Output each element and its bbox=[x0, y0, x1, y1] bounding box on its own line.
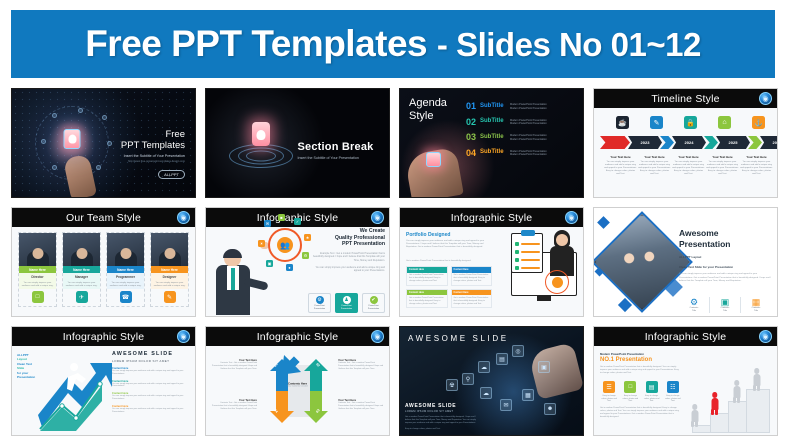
mini-icon-bulb: ☀ bbox=[258, 240, 265, 247]
box-icon: ✔ bbox=[370, 296, 378, 304]
slide-thumbnail-awesome-presentation[interactable]: Awesome Presentation ALLPPT Layout Clean… bbox=[593, 207, 778, 317]
slide8-paragraph: You can simply impress your audience and… bbox=[679, 273, 771, 283]
team-member-name: Name Here bbox=[19, 266, 56, 273]
timeline-arrow-4 bbox=[748, 136, 762, 149]
logo-badge-icon: ◉ bbox=[371, 330, 384, 343]
column-icon: ⚙ bbox=[679, 297, 709, 307]
agenda-detail-line: Modern PowerPoint Presentation bbox=[510, 138, 580, 142]
note-body: Contents Text : Get a modern PowerPoint … bbox=[338, 362, 384, 370]
slide12-header: Infographic Style ◉ bbox=[594, 327, 777, 346]
page-banner: Free PPT Templates - Slides No 01~12 bbox=[11, 10, 775, 78]
portfolio-card: Content Here Get a modern PowerPoint Pre… bbox=[451, 289, 493, 309]
slide2-title: Section Break bbox=[298, 141, 374, 153]
timeline-arrow-1 bbox=[600, 136, 630, 149]
banner-title-part2: - Slides No 01~12 bbox=[437, 26, 701, 63]
timeline-text-2: Your Text HereYou can simply impress you… bbox=[638, 155, 671, 176]
person-node-icon bbox=[41, 139, 46, 144]
slide9-header: Infographic Style ◉ bbox=[12, 327, 195, 346]
icon-tile: ▤ bbox=[646, 381, 658, 393]
cycle-center-text: Contents Here Your Contents Created bbox=[278, 382, 318, 389]
portfolio-paragraph: You can simply impress your audience and… bbox=[406, 240, 486, 250]
agenda-subtitle: SubTitle bbox=[480, 149, 510, 155]
team-member-name: Name Here bbox=[151, 266, 188, 273]
target-icon: ◎ bbox=[512, 345, 524, 357]
icon-caption: Easy to change colors, photos and Text. bbox=[643, 395, 661, 403]
slide3-title-line2: Style bbox=[409, 110, 447, 123]
agenda-number: 01 bbox=[466, 101, 480, 111]
slide5-header-title: Our Team Style bbox=[66, 212, 141, 224]
agenda-item: 04 SubTitle Modern PowerPoint Presentati… bbox=[466, 148, 580, 158]
slide1-subtitle: Insert the Subtitle of Your Presentation bbox=[103, 154, 185, 158]
center-body: Your Contents Created bbox=[278, 386, 318, 389]
agenda-item: 03 SubTitle Modern PowerPoint Presentati… bbox=[466, 132, 580, 142]
slide-thumbnail-section-break[interactable]: Section Break Insert the Subtitle of You… bbox=[205, 88, 390, 198]
user-avatar-icon bbox=[426, 152, 441, 167]
agenda-number: 03 bbox=[466, 132, 480, 142]
timeline-text-3: Your Text HereYou can simply impress you… bbox=[672, 155, 705, 176]
cycle-note: Your Text Here Contents Text : Get a mod… bbox=[211, 359, 257, 370]
timeline-icon-2: ✎ bbox=[650, 116, 663, 129]
team-member-card: Name Here Programmer You can simply impr… bbox=[106, 232, 145, 307]
slide12-icon-row: ☰ Easy to change colors, photos and Text… bbox=[600, 381, 682, 403]
icon-tile: □ bbox=[624, 381, 636, 393]
timeline-year-3: 2025 bbox=[716, 136, 750, 149]
box-icon: ♟ bbox=[343, 296, 351, 304]
icon-caption: Easy to change colors, photos and Text. bbox=[600, 395, 618, 403]
slide11-paragraph: Get a modern PowerPoint Presentation tha… bbox=[405, 416, 481, 425]
slide12-footer: Get a modern PowerPoint Presentation tha… bbox=[600, 407, 682, 419]
team-member-card: Name Here Designer You can simply impres… bbox=[150, 232, 189, 307]
box-label: PowerPoint Presentation bbox=[363, 305, 384, 310]
timeline-year-2: 2024 bbox=[672, 136, 706, 149]
box-label: PowerPoint Presentation bbox=[309, 305, 330, 310]
agenda-detail: Modern PowerPoint Presentation Modern Po… bbox=[510, 150, 580, 157]
icon-caption: Easy to change colors, photos and Text. bbox=[621, 395, 639, 403]
timeline-arrow-3 bbox=[704, 136, 718, 149]
portfolio-card-body: Get a modern PowerPoint Presentation tha… bbox=[452, 273, 492, 285]
target-circle-icon: 👥 bbox=[268, 228, 302, 262]
team-member-photo bbox=[19, 233, 56, 266]
column-line2: Title bbox=[741, 310, 771, 313]
slide6-paragraph1: Example Text : Get a modern PowerPoint P… bbox=[311, 252, 385, 262]
slide-thumbnail-infographic-character[interactable]: Infographic Style ◉ 👥 ✉ ■ ✓ ★ ⚙ ● ▣ ☀ We… bbox=[205, 207, 390, 317]
portfolio-note: Get a modern PowerPoint Presentation tha… bbox=[406, 260, 486, 263]
agenda-item: 01 SubTitle Modern PowerPoint Presentati… bbox=[466, 101, 580, 111]
team-member-photo bbox=[151, 233, 188, 266]
figure-gray bbox=[732, 380, 741, 402]
note-body: Contents Text : Get a modern PowerPoint … bbox=[211, 402, 257, 410]
team-member-desc: You can simply impress your audience and… bbox=[107, 280, 144, 289]
team-member-photo bbox=[63, 233, 100, 266]
businessman-illustration bbox=[210, 250, 266, 316]
document-icon: ▤ bbox=[496, 353, 508, 365]
team-member-name: Name Here bbox=[63, 266, 100, 273]
timeline-text-1: Your Text HereYou can simply impress you… bbox=[604, 155, 637, 176]
lightbulb-icon: ☢ bbox=[446, 379, 458, 391]
growth-arrow-graphic bbox=[38, 353, 112, 431]
slide12-heading: NO.1 Presentation bbox=[600, 357, 652, 363]
timeline-axis: 2023 2024 2025 2026 2027 bbox=[600, 136, 771, 149]
monitor-stand-graphic bbox=[537, 296, 551, 301]
portfolio-heading: Portfolio Designed bbox=[406, 232, 450, 238]
slide1-title-line2: PPT Templates bbox=[103, 140, 185, 151]
team-member-desc: You can simply impress your audience and… bbox=[19, 280, 56, 289]
timeline-icon-4: ⌂ bbox=[718, 116, 731, 129]
slide6-box: ✔ PowerPoint Presentation bbox=[362, 293, 385, 313]
team-member-role: Programmer bbox=[107, 273, 144, 280]
slide-thumbnail-stairs[interactable]: Infographic Style ◉ Modern PowerPoint Pr… bbox=[593, 326, 778, 436]
agenda-detail-line: Modern PowerPoint Presentation bbox=[510, 107, 580, 111]
slide12-icon-item: ▤ Easy to change colors, photos and Text… bbox=[643, 381, 661, 403]
mini-icon-chart: ■ bbox=[278, 214, 285, 221]
item-body: You can simply impress your audience and… bbox=[112, 395, 190, 401]
cycle-note: Your Text Here Contents Text : Get a mod… bbox=[211, 399, 257, 410]
slide6-heading-line1: We Create bbox=[311, 228, 385, 235]
slide9-text-block: AWESOME SLIDE LOREM IPSUM DOLOR SIT AMET… bbox=[112, 351, 190, 413]
slide-thumbnail-team[interactable]: Our Team Style ◉ Name Here Director You … bbox=[11, 207, 196, 317]
slide8-title-line1: Awesome bbox=[679, 228, 771, 239]
ripple-ring-icon bbox=[246, 150, 276, 161]
slide-thumbnail-arrow-chart[interactable]: Infographic Style ◉ ALLPPT Layout Clean … bbox=[11, 326, 196, 436]
banner-title: Free PPT Templates - Slides No 01~12 bbox=[85, 23, 701, 65]
slide11-text-panel: AWESOME SLIDE LOREM IPSUM DOLOR SIT AMET… bbox=[405, 403, 481, 431]
slide2-subtitle: Insert the Subtitle of Your Presentation bbox=[298, 156, 374, 160]
slide8-subheading-line1: ALLPPT Layout bbox=[679, 255, 771, 259]
icon-caption: Easy to change colors, photos and Text. bbox=[664, 395, 682, 403]
portfolio-card-body: Get a modern PowerPoint Presentation tha… bbox=[407, 273, 447, 285]
team-member-card: Name Here Director You can simply impres… bbox=[18, 232, 57, 307]
figure-highlight bbox=[710, 392, 719, 414]
column-line2: Title bbox=[710, 310, 740, 313]
woman-illustration bbox=[547, 230, 577, 276]
timeline-text-4: Your Text HereYou can simply impress you… bbox=[706, 155, 739, 176]
slide10-header: Infographic Style ◉ bbox=[206, 327, 389, 346]
mini-icon-star: ★ bbox=[304, 234, 311, 241]
slide1-url: http://www.free-powerpoint-templates-des… bbox=[103, 160, 185, 163]
mini-icon-check: ✓ bbox=[294, 218, 301, 225]
timeline-icon-1: ☕ bbox=[616, 116, 629, 129]
person-node-icon bbox=[52, 165, 57, 170]
mini-icon-chat: ✉ bbox=[264, 220, 271, 227]
slide1-title-line1: Free bbox=[103, 129, 185, 140]
slide12-paragraph: Get a modern PowerPoint Presentation tha… bbox=[600, 366, 680, 375]
contents-column: ⚙ Contents Title bbox=[679, 297, 709, 313]
template-preview-page: Free PPT Templates - Slides No 01~12 Fre… bbox=[0, 0, 786, 445]
team-member-icon: ☎ bbox=[120, 291, 132, 303]
cloud-icon: ☁ bbox=[478, 361, 490, 373]
slide11-subheading: LOREM IPSUM DOLOR SIT AMET bbox=[405, 410, 481, 413]
slide6-text-block: We Create Quality Professional PPT Prese… bbox=[311, 228, 385, 273]
team-member-icon: ✈ bbox=[76, 291, 88, 303]
timeline-arrow-2 bbox=[660, 136, 674, 149]
slide2-text-block: Section Break Insert the Subtitle of You… bbox=[298, 141, 374, 160]
column-icon: ▦ bbox=[741, 297, 771, 307]
mini-icon-gear: ⚙ bbox=[302, 252, 309, 259]
slide-thumbnail-timeline[interactable]: Timeline Style ◉ ☕ ✎ 🔒 ⌂ ⚓ 2023 2024 202… bbox=[593, 88, 778, 198]
agenda-number: 02 bbox=[466, 117, 480, 127]
logo-badge-icon: ◉ bbox=[759, 330, 772, 343]
agenda-detail-line: Modern PowerPoint Presentation bbox=[510, 153, 580, 157]
slide1-brand-badge: ALLPPT bbox=[158, 170, 185, 179]
slide10-header-title: Infographic Style bbox=[257, 331, 339, 343]
team-member-desc: You can simply impress your audience and… bbox=[151, 280, 188, 289]
timeline-icon-5: ⚓ bbox=[752, 116, 765, 129]
people-icon: ☻ bbox=[544, 403, 556, 415]
item-body: You can simply impress your audience and… bbox=[112, 370, 190, 376]
column-icon: ▣ bbox=[710, 297, 740, 307]
slide-thumbnail-agenda[interactable]: Agenda Style 01 SubTitle Modern PowerPoi… bbox=[399, 88, 584, 198]
team-member-role: Manager bbox=[63, 273, 100, 280]
note-body: Contents Text : Get a modern PowerPoint … bbox=[211, 362, 257, 370]
slide5-header: Our Team Style ◉ bbox=[12, 208, 195, 227]
slide9-item: Content Here You can simply impress your… bbox=[112, 405, 190, 414]
slide6-paragraph2: You can simply impress your audience and… bbox=[311, 266, 385, 273]
slide7-header: Infographic Style ◉ bbox=[400, 208, 583, 227]
slide12-header-title: Infographic Style bbox=[645, 331, 727, 343]
slide4-header: Timeline Style ◉ bbox=[594, 89, 777, 108]
item-body: You can simply impress your audience and… bbox=[112, 408, 190, 414]
team-member-icon: ✎ bbox=[164, 291, 176, 303]
contents-column: ▦ Contents Title bbox=[740, 297, 771, 313]
agenda-detail: Modern PowerPoint Presentation Modern Po… bbox=[510, 119, 580, 126]
agenda-number: 04 bbox=[466, 148, 480, 158]
timeline-text-5: Your Text HereYou can simply impress you… bbox=[740, 155, 773, 176]
team-card-list: Name Here Director You can simply impres… bbox=[18, 232, 189, 307]
slide6-heading-line3: PPT Presentation bbox=[311, 241, 385, 248]
mail-icon: ✉ bbox=[500, 399, 512, 411]
contents-column: ▣ Contents Title bbox=[709, 297, 740, 313]
clipboard-icon bbox=[511, 233, 543, 273]
slide9-subheading: LOREM IPSUM DOLOR SIT AMET bbox=[112, 359, 190, 363]
slide9-item: Content Here You can simply impress your… bbox=[112, 367, 190, 376]
slide8-text-block: Awesome Presentation ALLPPT Layout Clean… bbox=[679, 228, 771, 283]
agenda-detail: Modern PowerPoint Presentation Modern Po… bbox=[510, 103, 580, 110]
slide11-heading: AWESOME SLIDE bbox=[405, 403, 481, 409]
slide-thumbnail-awesome-dark[interactable]: AWESOME SLIDE ☁ ▤ ◎ ⚲ ☢ ☁ ✉ ▦ ▣ ☻ AWESOM… bbox=[399, 326, 584, 436]
mini-icon-user: ● bbox=[286, 264, 293, 271]
person-node-icon bbox=[102, 115, 107, 120]
slide12-icon-item: ☰ Easy to change colors, photos and Text… bbox=[600, 381, 618, 403]
agenda-detail: Modern PowerPoint Presentation Modern Po… bbox=[510, 134, 580, 141]
team-member-card: Name Here Manager You can simply impress… bbox=[62, 232, 101, 307]
logo-badge-icon: ◉ bbox=[177, 330, 190, 343]
agenda-list: 01 SubTitle Modern PowerPoint Presentati… bbox=[466, 101, 580, 163]
logo-badge-icon: ◉ bbox=[565, 211, 578, 224]
slide3-title-line1: Agenda bbox=[409, 97, 447, 110]
team-member-desc: You can simply impress your audience and… bbox=[63, 280, 100, 289]
cloud-upload-icon: ☁ bbox=[480, 387, 492, 399]
logo-badge-icon: ◉ bbox=[759, 92, 772, 105]
slide-thumbnail-cycle[interactable]: Infographic Style ◉ 01 02 03 04 Contents… bbox=[205, 326, 390, 436]
team-member-role: Designer bbox=[151, 273, 188, 280]
agenda-subtitle: SubTitle bbox=[480, 118, 510, 124]
slide-grid: Free PPT Templates Insert the Subtitle o… bbox=[11, 88, 777, 436]
note-body: Contents Text : Get a modern PowerPoint … bbox=[338, 402, 384, 410]
timeline-year-4: 2026 bbox=[760, 136, 778, 149]
slide6-box: ⚙ PowerPoint Presentation bbox=[308, 293, 331, 313]
slide9-heading: AWESOME SLIDE bbox=[112, 351, 190, 357]
team-member-name: Name Here bbox=[107, 266, 144, 273]
icon-tile: ☰ bbox=[603, 381, 615, 393]
logo-badge-icon: ◉ bbox=[177, 211, 190, 224]
decor-square bbox=[597, 216, 610, 229]
slide12-icon-item: ☷ Easy to change colors, photos and Text… bbox=[664, 381, 682, 403]
portfolio-card: Content Here Get a modern PowerPoint Pre… bbox=[406, 266, 448, 286]
slide-thumbnail-title[interactable]: Free PPT Templates Insert the Subtitle o… bbox=[11, 88, 196, 198]
portfolio-card: Content Here Get a modern PowerPoint Pre… bbox=[406, 289, 448, 309]
agenda-detail-line: Modern PowerPoint Presentation bbox=[510, 122, 580, 126]
box-label: PowerPoint Presentation bbox=[336, 305, 357, 310]
timeline-icon-3: 🔒 bbox=[684, 116, 697, 129]
slide11-top-title: AWESOME SLIDE bbox=[408, 334, 509, 343]
slide7-header-title: Infographic Style bbox=[451, 212, 533, 224]
team-member-role: Director bbox=[19, 273, 56, 280]
slide-thumbnail-portfolio[interactable]: Infographic Style ◉ Portfolio Designed Y… bbox=[399, 207, 584, 317]
slide1-text-block: Free PPT Templates Insert the Subtitle o… bbox=[103, 129, 185, 181]
slide9-item: Content Here You can simply impress your… bbox=[112, 392, 190, 401]
slide6-box: ♟ PowerPoint Presentation bbox=[335, 293, 358, 313]
agenda-subtitle: SubTitle bbox=[480, 134, 510, 140]
stairs-graphic bbox=[688, 357, 774, 433]
slide11-footer: Easy to change colors, photos and Text. bbox=[405, 428, 481, 431]
slide4-header-title: Timeline Style bbox=[651, 93, 719, 105]
chart-icon: ▦ bbox=[522, 389, 534, 401]
slide6-box-list: ⚙ PowerPoint Presentation ♟ PowerPoint P… bbox=[308, 293, 385, 313]
slide12-pre-heading: Modern PowerPoint Presentation bbox=[600, 352, 644, 356]
target-circle-icon bbox=[545, 270, 569, 294]
banner-title-part1: Free PPT Templates bbox=[85, 23, 427, 64]
team-member-photo bbox=[107, 233, 144, 266]
mini-icon-doc: ▣ bbox=[266, 260, 273, 267]
slide9-item: Content Here You can simply impress your… bbox=[112, 380, 190, 389]
cycle-note: Your Text Here Contents Text : Get a mod… bbox=[338, 399, 384, 410]
icon-tile: ☷ bbox=[667, 381, 679, 393]
user-avatar-icon bbox=[252, 122, 270, 146]
portfolio-card-body: Get a modern PowerPoint Presentation tha… bbox=[452, 295, 492, 307]
portfolio-card-grid: Content Here Get a modern PowerPoint Pre… bbox=[406, 266, 492, 308]
slide12-icon-item: □ Easy to change colors, photos and Text… bbox=[621, 381, 639, 403]
slide8-subheading-line2: Clean Text Slide for your Presentation bbox=[679, 265, 771, 269]
diamond-photo-frame bbox=[593, 211, 693, 313]
figure-gray bbox=[752, 368, 761, 390]
box-icon: ⚙ bbox=[316, 296, 324, 304]
slide6-heading-line2: Quality Professional bbox=[311, 235, 385, 242]
agenda-subtitle: SubTitle bbox=[480, 103, 510, 109]
slide8-title-line2: Presentation bbox=[679, 239, 771, 250]
person-node-icon bbox=[96, 165, 101, 170]
portfolio-card-body: Get a modern PowerPoint Presentation tha… bbox=[407, 295, 447, 307]
logo-badge-icon: ◉ bbox=[371, 211, 384, 224]
cycle-note: Your Text Here Contents Text : Get a mod… bbox=[338, 359, 384, 370]
portfolio-card: Content Here Get a modern PowerPoint Pre… bbox=[451, 266, 493, 286]
column-line2: Title bbox=[679, 310, 709, 313]
people-icon: 👥 bbox=[277, 237, 293, 253]
item-body: You can simply impress your audience and… bbox=[112, 383, 190, 389]
slide9-header-title: Infographic Style bbox=[63, 331, 145, 343]
user-avatar-icon bbox=[64, 129, 81, 149]
screen-icon: ▣ bbox=[538, 361, 550, 373]
figure-gray bbox=[690, 404, 699, 426]
timeline-year-1: 2023 bbox=[628, 136, 662, 149]
agenda-item: 02 SubTitle Modern PowerPoint Presentati… bbox=[466, 117, 580, 127]
person-node-icon bbox=[52, 113, 57, 118]
slide3-title: Agenda Style bbox=[409, 97, 447, 122]
search-icon: ⚲ bbox=[462, 373, 474, 385]
team-member-icon: □ bbox=[32, 291, 44, 303]
slide8-contents-columns: ⚙ Contents Title ▣ Contents Title ▦ Cont… bbox=[679, 297, 771, 313]
